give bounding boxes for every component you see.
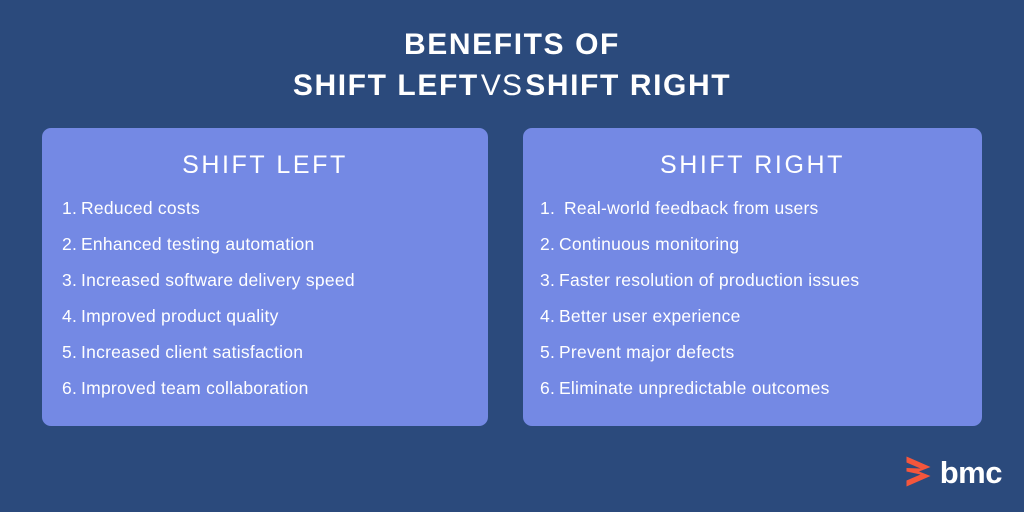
list-item: 6. Improved team collaboration [62,380,488,416]
list-item-label: Improved product quality [81,308,279,326]
list-item: 6. Eliminate unpredictable outcomes [540,380,982,416]
list-item: 3. Faster resolution of production issue… [540,272,982,308]
list-item-label: Increased client satisfaction [81,344,303,362]
page-header: BENEFITS OF SHIFT LEFTVSSHIFT RIGHT [0,27,1024,105]
list-item-label: Continuous monitoring [559,236,739,254]
subtitle-shift-right: SHIFT RIGHT [525,69,731,102]
list-item-number: 5. [62,344,81,362]
cards-container: SHIFT LEFT 1. Reduced costs 2. Enhanced … [42,128,982,426]
infographic-poster: BENEFITS OF SHIFT LEFTVSSHIFT RIGHT SHIF… [0,0,1024,512]
benefits-list-shift-right: 1. Real-world feedback from users 2. Con… [523,200,982,416]
list-item: 1. Reduced costs [62,200,488,236]
list-item-number: 3. [62,272,81,290]
list-item: 3. Increased software delivery speed [62,272,488,308]
card-title-shift-left: SHIFT LEFT [42,150,488,180]
bmc-wordmark: bmc [940,457,1002,488]
list-item-number: 6. [62,380,81,398]
list-item: 5. Prevent major defects [540,344,982,380]
list-item-label: Better user experience [559,308,741,326]
list-item: 1. Real-world feedback from users [540,200,982,236]
list-item-label: Eliminate unpredictable outcomes [559,380,830,398]
subtitle-shift-left: SHIFT LEFT [293,69,479,102]
list-item-label: Prevent major defects [559,344,734,362]
list-item-number: 4. [62,308,81,326]
list-item-number: 4. [540,308,559,326]
list-item-label: Increased software delivery speed [81,272,355,290]
page-title: BENEFITS OF [0,27,1024,64]
page-subtitle: SHIFT LEFTVSSHIFT RIGHT [0,66,1024,105]
bmc-chevron-mark [906,456,933,487]
benefits-list-shift-left: 1. Reduced costs 2. Enhanced testing aut… [42,200,488,416]
list-item-label: Real-world feedback from users [564,200,819,218]
list-item: 4. Better user experience [540,308,982,344]
card-shift-left: SHIFT LEFT 1. Reduced costs 2. Enhanced … [42,128,488,426]
list-item-number: 1. [62,200,81,218]
card-title-shift-right: SHIFT RIGHT [523,150,982,180]
list-item: 5. Increased client satisfaction [62,344,488,380]
card-shift-right: SHIFT RIGHT 1. Real-world feedback from … [523,128,982,426]
list-item-number: 3. [540,272,559,290]
subtitle-connector: VS [479,69,525,102]
list-item-number: 1. [540,200,564,218]
list-item-label: Faster resolution of production issues [559,272,859,290]
list-item-number: 2. [62,236,81,254]
list-item-number: 6. [540,380,559,398]
bmc-logo: bmc [906,456,1002,487]
list-item-label: Enhanced testing automation [81,236,314,254]
list-item-label: Reduced costs [81,200,200,218]
list-item-number: 5. [540,344,559,362]
list-item: 2. Continuous monitoring [540,236,982,272]
list-item-label: Improved team collaboration [81,380,309,398]
list-item: 4. Improved product quality [62,308,488,344]
list-item-number: 2. [540,236,559,254]
list-item: 2. Enhanced testing automation [62,236,488,272]
